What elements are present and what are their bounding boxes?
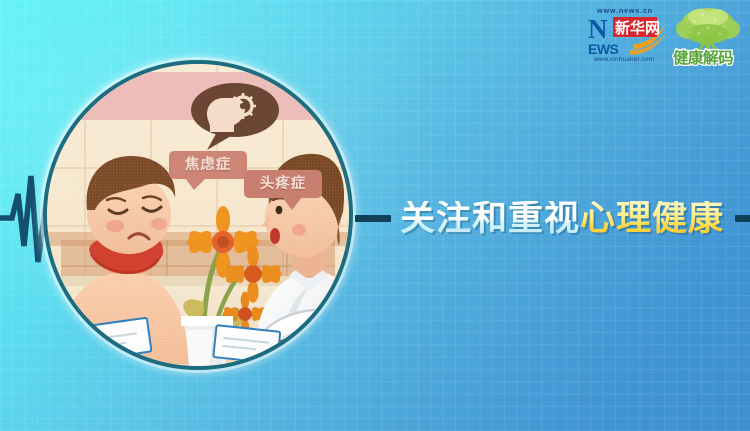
speech-bubble-anxiety: 焦虑症 — [169, 151, 247, 179]
page-title: 关注和重视 心理健康 — [400, 201, 724, 236]
rule-left-decoration — [355, 215, 391, 222]
rule-right-group — [735, 215, 750, 222]
tree-icon — [676, 8, 740, 56]
illustration-circle: 焦虑症 头疼症 — [43, 60, 353, 370]
circle-ring-border — [43, 60, 353, 370]
health-column-logo[interactable]: 健康解码 — [672, 4, 744, 66]
headline-row: 关注和重视 心理健康 — [355, 196, 750, 240]
xinhua-cn-name: 新华网 — [615, 19, 660, 37]
headline-segment-white: 关注和重视 — [400, 201, 580, 236]
xinhua-domain-bottom: www.xinhuanet.com — [593, 56, 654, 62]
svg-text:EWS: EWS — [588, 41, 619, 57]
illustration-clip — [47, 64, 349, 366]
xinhuanet-logo[interactable]: www.news.cn N EWS 新华网 www.xinhuanet.com — [586, 4, 668, 62]
rule-right-decoration — [735, 215, 750, 222]
infographic-banner: 焦虑症 头疼症 关注和重视 心理健康 www.news.cn N — [0, 0, 750, 431]
health-column-title: 健康解码 — [673, 48, 733, 66]
svg-text:N: N — [588, 14, 608, 44]
counseling-scene-art — [47, 64, 349, 366]
logo-bar: www.news.cn N EWS 新华网 www.xinhuanet.com — [586, 4, 744, 66]
speech-bubble-headache: 头疼症 — [244, 170, 322, 198]
headline-segment-yellow: 心理健康 — [580, 201, 724, 236]
